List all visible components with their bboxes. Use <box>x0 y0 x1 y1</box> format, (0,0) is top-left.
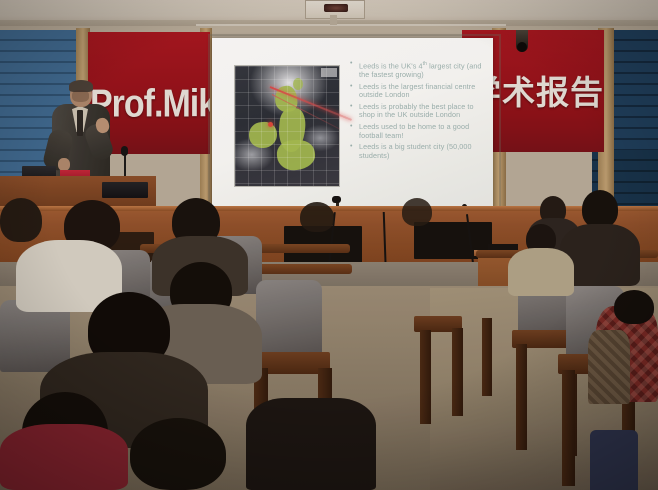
audience-head <box>582 190 618 228</box>
slide-bullet: Leeds is a big student city (50,000 stud… <box>350 143 484 160</box>
audience-head <box>402 198 432 226</box>
slide-bullet: Leeds is the UK's 4th largest city (and … <box>350 60 484 80</box>
seat-leg <box>516 344 527 450</box>
audience-checked-shirt <box>588 330 630 404</box>
slide-satellite-map <box>234 65 340 187</box>
map-grid-overlay <box>235 66 339 186</box>
slide-bullet: Leeds used to be home to a good football… <box>350 123 484 140</box>
audience-bag <box>590 430 638 490</box>
seat-leg <box>482 318 492 396</box>
seat <box>256 280 322 358</box>
seat-leg <box>420 330 431 424</box>
audience-head <box>130 418 226 490</box>
desk-object-mic <box>332 196 341 203</box>
audience-head <box>614 290 654 324</box>
seat-leg <box>452 328 463 416</box>
presenter-tie <box>77 110 83 136</box>
slide-bullet: Leeds is probably the best place to shop… <box>350 103 484 120</box>
podium-laptop-secondary <box>102 182 148 198</box>
laser-pointer-dot <box>268 122 273 127</box>
audience-shoulders-light <box>508 248 574 296</box>
audience-head <box>300 202 334 232</box>
seat-leg <box>562 370 575 486</box>
projector-lens <box>324 4 348 12</box>
microphone-icon <box>121 146 128 156</box>
audience-head <box>0 198 42 242</box>
surveillance-camera-icon <box>516 30 528 52</box>
slide-bullet: Leeds is the largest financial centre ou… <box>350 83 484 100</box>
slide-bullet-list: Leeds is the UK's 4th largest city (and … <box>350 60 484 163</box>
presenter-face <box>72 90 89 102</box>
audience-shoulders <box>246 398 376 490</box>
projector-mount-arm <box>330 15 337 25</box>
lecture-hall-photo: Prof.Mike 学术报告会 Leeds is the UK's 4th la… <box>0 0 658 490</box>
map-corner-badge <box>321 68 337 77</box>
projection-screen: Leeds is the UK's 4th largest city (and … <box>212 38 493 216</box>
audience-shoulders-red-jacket <box>0 424 128 490</box>
